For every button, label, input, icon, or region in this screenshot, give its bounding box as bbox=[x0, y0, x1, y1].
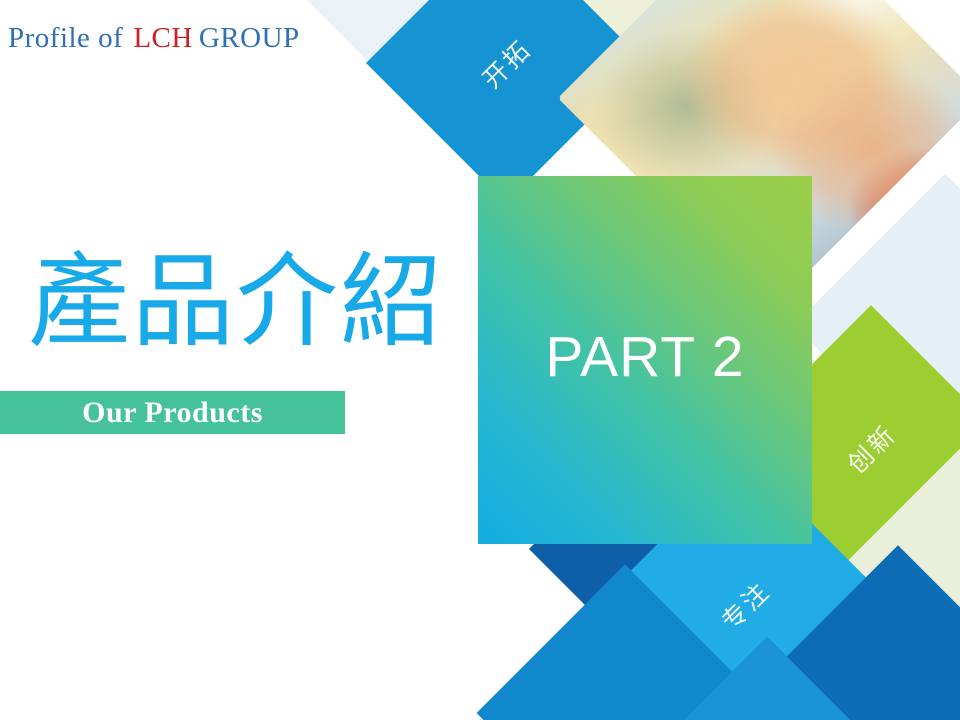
brand-mark: LCH bbox=[133, 22, 193, 54]
mosaic-tile-label-chuangxin: 创新 bbox=[838, 415, 903, 480]
part-number-panel: PART 2 bbox=[478, 176, 812, 544]
brand-suffix: GROUP bbox=[199, 22, 300, 54]
part-number-label: PART 2 bbox=[545, 329, 744, 386]
subtitle-band: Our Products bbox=[0, 391, 345, 434]
mosaic-tile-label-kaituo: 开拓 bbox=[473, 30, 538, 95]
brand-prefix: Profile of bbox=[8, 22, 123, 54]
slide-main-title: 產品介紹 bbox=[28, 252, 444, 354]
mosaic-tile-label-zhuanzhu: 专注 bbox=[712, 572, 777, 637]
subtitle-label: Our Products bbox=[82, 396, 263, 430]
presentation-slide: 开拓 创新 专注 PART 2 Profile of bbox=[0, 0, 960, 720]
brand-header: Profile ofLCHGROUP bbox=[8, 22, 300, 55]
